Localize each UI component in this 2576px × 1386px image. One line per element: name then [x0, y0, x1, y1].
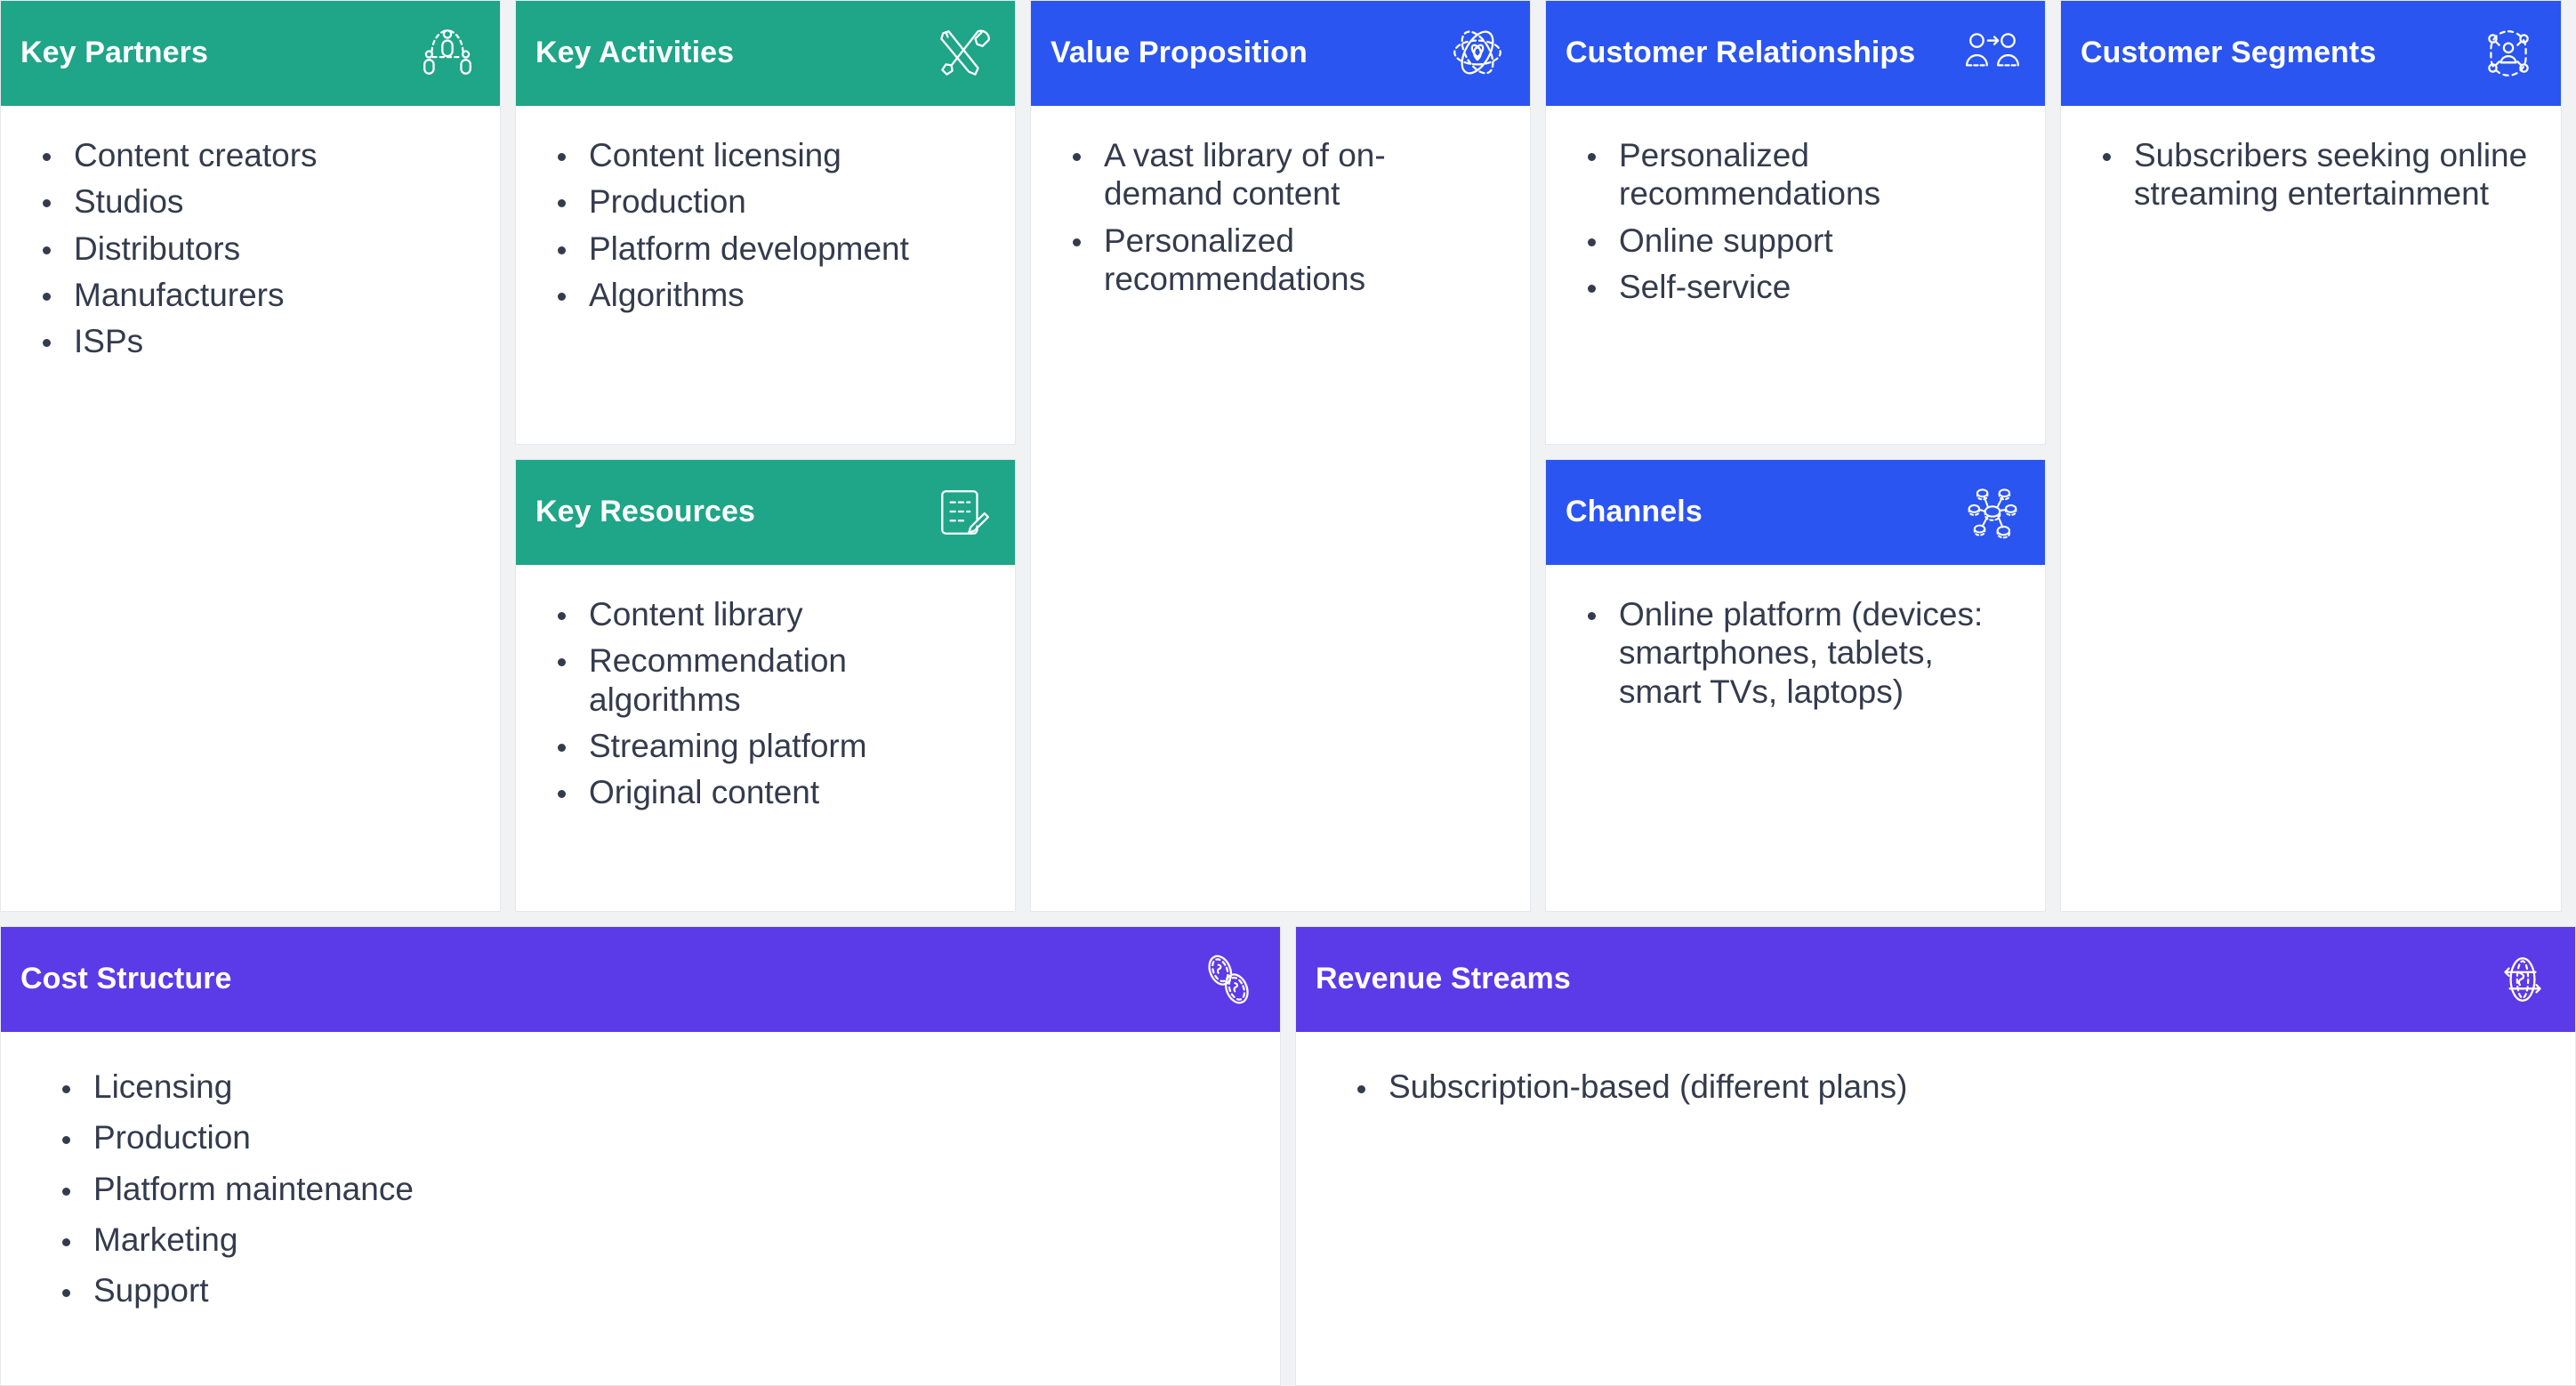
list-key-activities: Content licensing Production Platform de…	[543, 136, 988, 314]
block-cost-structure[interactable]: Cost Structure Licens	[0, 926, 1281, 1386]
list-item: A vast library of on-demand content	[1058, 136, 1503, 214]
list-item: Production	[543, 182, 988, 221]
block-key-resources[interactable]: Key Resources Content	[515, 459, 1016, 912]
block-header-key-partners: Key Partners	[1, 1, 500, 106]
list-item: Online support	[1573, 222, 2018, 260]
list-channels: Online platform (devices: smartphones, t…	[1573, 595, 2018, 711]
list-item: Support	[47, 1271, 1253, 1309]
block-key-activities[interactable]: Key Activities Content licensing Product…	[515, 0, 1016, 445]
canvas-top-region: Key Partners	[0, 0, 2576, 912]
list-item: Streaming platform	[543, 727, 988, 765]
block-title-revenue-streams: Revenue Streams	[1316, 963, 1571, 995]
business-model-canvas: Key Partners	[0, 0, 2576, 1386]
column-revenue-streams: Revenue Streams Subscription-based (	[1295, 926, 2576, 1386]
list-value-proposition: A vast library of on-demand content Pers…	[1058, 136, 1503, 298]
list-item: Recommendation algorithms	[543, 641, 988, 719]
block-header-revenue-streams: Revenue Streams	[1296, 927, 2575, 1032]
list-item: Production	[47, 1118, 1253, 1156]
block-customer-segments[interactable]: Customer Segments	[2060, 0, 2562, 912]
canvas-bottom-region: Cost Structure Licens	[0, 926, 2576, 1386]
block-title-customer-segments: Customer Segments	[2081, 36, 2376, 69]
list-item: Platform maintenance	[47, 1170, 1253, 1208]
list-item: Content library	[543, 595, 988, 633]
list-customer-segments: Subscribers seeking online streaming ent…	[2088, 136, 2534, 214]
block-title-channels: Channels	[1566, 496, 1703, 528]
block-header-key-activities: Key Activities	[516, 1, 1015, 106]
block-title-key-activities: Key Activities	[535, 36, 734, 69]
block-title-value-proposition: Value Proposition	[1051, 36, 1308, 69]
block-channels[interactable]: Channels	[1545, 459, 2046, 912]
list-item: Subscription-based (different plans)	[1342, 1068, 2548, 1106]
list-key-partners: Content creators Studios Distributors Ma…	[28, 136, 473, 360]
atom-heart-icon	[1448, 24, 1507, 83]
block-body-revenue-streams: Subscription-based (different plans)	[1296, 1032, 2575, 1385]
dollar-coin-cycle-icon	[2493, 950, 2552, 1009]
list-item: Studios	[28, 182, 473, 221]
column-key-activities-resources: Key Activities Content licensing Product…	[515, 0, 1016, 912]
list-key-resources: Content library Recommendation algorithm…	[543, 595, 988, 811]
block-key-partners[interactable]: Key Partners	[0, 0, 501, 912]
person-target-icon	[2479, 24, 2538, 83]
list-item: Personalized recommendations	[1058, 222, 1503, 299]
block-value-proposition[interactable]: Value Proposition A vast library of	[1030, 0, 1531, 912]
block-revenue-streams[interactable]: Revenue Streams Subscription-based (	[1295, 926, 2576, 1386]
list-revenue-streams: Subscription-based (different plans)	[1342, 1068, 2548, 1106]
list-item: Personalized recommendations	[1573, 136, 2018, 214]
list-item: Manufacturers	[28, 276, 473, 314]
column-key-partners: Key Partners	[0, 0, 501, 912]
block-title-key-partners: Key Partners	[20, 36, 208, 69]
list-item: Marketing	[47, 1221, 1253, 1259]
column-customer-segments: Customer Segments	[2060, 0, 2562, 912]
block-header-cost-structure: Cost Structure	[1, 927, 1280, 1032]
block-body-key-resources: Content library Recommendation algorithm…	[516, 565, 1015, 911]
list-item: Distributors	[28, 230, 473, 268]
block-body-channels: Online platform (devices: smartphones, t…	[1546, 565, 2045, 911]
block-body-key-activities: Content licensing Production Platform de…	[516, 106, 1015, 444]
notepad-pencil-icon	[933, 483, 992, 542]
block-header-key-resources: Key Resources	[516, 460, 1015, 565]
block-header-channels: Channels	[1546, 460, 2045, 565]
block-header-customer-segments: Customer Segments	[2061, 1, 2561, 106]
block-body-key-partners: Content creators Studios Distributors Ma…	[1, 106, 500, 911]
block-customer-relationships[interactable]: Customer Relationships	[1545, 0, 2046, 445]
block-body-customer-relationships: Personalized recommendations Online supp…	[1546, 106, 2045, 444]
column-customer-relationships-channels: Customer Relationships	[1545, 0, 2046, 912]
block-title-cost-structure: Cost Structure	[20, 963, 232, 995]
list-item: Content creators	[28, 136, 473, 174]
list-item: Self-service	[1573, 268, 2018, 306]
column-value-proposition: Value Proposition A vast library of	[1030, 0, 1531, 912]
hub-network-icon	[1963, 483, 2022, 542]
list-item: Subscribers seeking online streaming ent…	[2088, 136, 2534, 214]
list-item: Online platform (devices: smartphones, t…	[1573, 595, 2018, 711]
block-title-key-resources: Key Resources	[535, 496, 755, 528]
block-body-customer-segments: Subscribers seeking online streaming ent…	[2061, 106, 2561, 911]
block-header-value-proposition: Value Proposition	[1031, 1, 1530, 106]
list-item: Platform development	[543, 230, 988, 268]
partners-network-icon	[418, 24, 477, 83]
block-body-cost-structure: Licensing Production Platform maintenanc…	[1, 1032, 1280, 1385]
block-title-customer-relationships: Customer Relationships	[1566, 36, 1915, 69]
list-item: Algorithms	[543, 276, 988, 314]
column-cost-structure: Cost Structure Licens	[0, 926, 1281, 1386]
list-cost-structure: Licensing Production Platform maintenanc…	[47, 1068, 1253, 1309]
list-item: Original content	[543, 773, 988, 811]
coins-icon	[1198, 950, 1257, 1009]
list-item: Licensing	[47, 1068, 1253, 1106]
block-body-value-proposition: A vast library of on-demand content Pers…	[1031, 106, 1530, 911]
list-item: ISPs	[28, 322, 473, 360]
list-item: Content licensing	[543, 136, 988, 174]
wrench-screwdriver-icon	[933, 24, 992, 83]
block-header-customer-relationships: Customer Relationships	[1546, 1, 2045, 106]
two-people-arrow-icon	[1963, 24, 2022, 83]
list-customer-relationships: Personalized recommendations Online supp…	[1573, 136, 2018, 306]
